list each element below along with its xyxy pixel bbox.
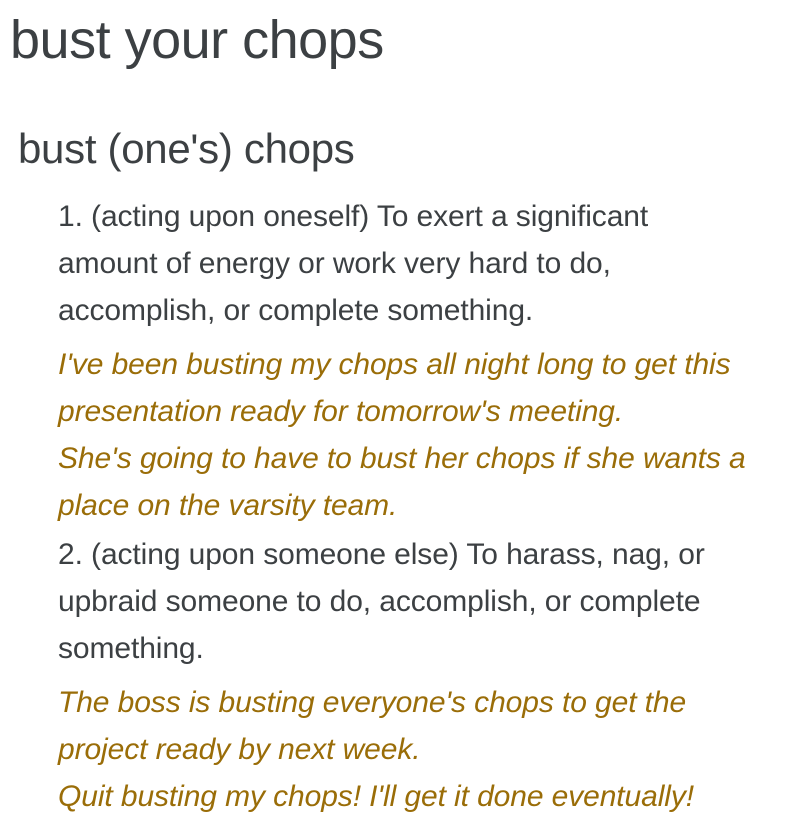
definitions-list: 1. (acting upon oneself) To exert a sign… bbox=[58, 193, 748, 820]
example-sentence-2-1: The boss is busting everyone's chops to … bbox=[58, 679, 748, 773]
example-sentence-2-2: Quit busting my chops! I'll get it done … bbox=[58, 773, 748, 820]
dictionary-entry-page: bust your chops bust (one's) chops 1. (a… bbox=[0, 0, 800, 806]
example-sentence-1-1: I've been busting my chops all night lon… bbox=[58, 341, 748, 435]
headword-heading: bust (one's) chops bbox=[18, 123, 354, 175]
page-title: bust your chops bbox=[10, 8, 384, 72]
sense-definition-1: 1. (acting upon oneself) To exert a sign… bbox=[58, 193, 748, 334]
example-sentence-1-2: She's going to have to bust her chops if… bbox=[58, 435, 748, 529]
sense-definition-2: 2. (acting upon someone else) To harass,… bbox=[58, 531, 748, 672]
